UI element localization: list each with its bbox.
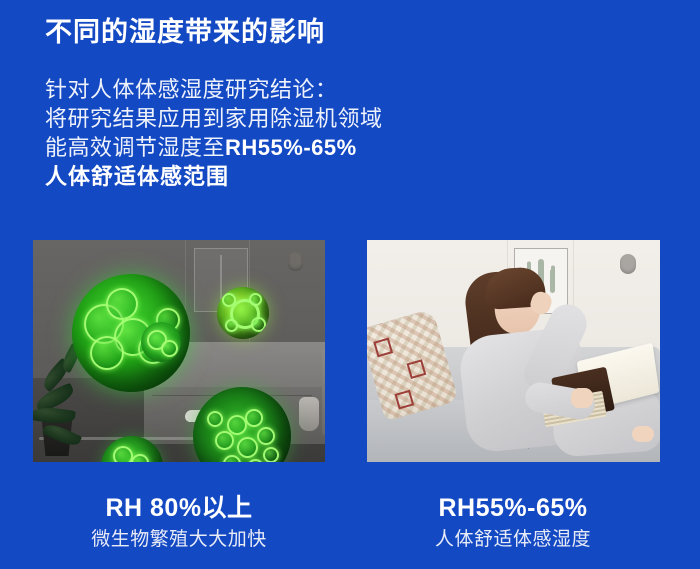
panel-comfort-humidity	[367, 240, 660, 462]
microbe-cell	[263, 447, 279, 462]
captions-row: RH 80%以上 微生物繁殖大大加快 RH55%-65% 人体舒适体感湿度	[0, 492, 700, 569]
caption-comfort-humidity: RH55%-65% 人体舒适体感湿度	[367, 492, 659, 552]
microbe-cell	[207, 411, 223, 427]
woman-reading	[367, 240, 660, 462]
caption-head-comfort-humidity: RH55%-65%	[367, 492, 659, 524]
microbe-cell	[237, 437, 258, 458]
microbe-cell	[251, 317, 266, 332]
body-line-3-plain: 能高效调节湿度至	[45, 135, 225, 160]
caption-sub-high-humidity: 微生物繁殖大大加快	[33, 527, 325, 552]
page-title: 不同的湿度带来的影响	[45, 14, 665, 50]
microbe-cell	[247, 459, 264, 462]
body-line-4: 人体舒适体感范围	[45, 162, 645, 191]
wall-thermostat-icon	[288, 252, 303, 271]
microbe-floating-right	[217, 287, 269, 339]
heading-block: 不同的湿度带来的影响	[45, 14, 665, 50]
microbe-cell	[131, 454, 149, 462]
microbe-cell	[222, 293, 236, 307]
panel-high-humidity	[33, 240, 325, 462]
body-copy: 针对人体体感湿度研究结论： 将研究结果应用到家用除湿机领域 能高效调节湿度至RH…	[45, 75, 645, 191]
caption-head-high-humidity: RH 80%以上	[33, 492, 325, 524]
panels-row	[0, 240, 700, 462]
microbe-cell	[161, 340, 178, 357]
microbe-small-front	[141, 322, 181, 362]
microbe-cell	[257, 427, 275, 445]
foot	[632, 426, 654, 442]
body-line-2: 将研究结果应用到家用除湿机领域	[45, 104, 645, 133]
microbe-cell	[90, 336, 124, 370]
microbe-cell	[249, 293, 262, 306]
photo-dim-living-room-with-microbes	[33, 240, 325, 462]
microbe-cell	[106, 288, 138, 320]
hand-holding-book	[571, 388, 593, 408]
body-line-1: 针对人体体感湿度研究结论：	[45, 75, 645, 104]
caption-sub-comfort-humidity: 人体舒适体感湿度	[367, 527, 659, 552]
body-line-3: 能高效调节湿度至RH55%-65%	[45, 133, 645, 162]
microbe-cell	[225, 319, 238, 332]
sofa-armrest	[322, 348, 325, 436]
microbe-cell	[113, 446, 133, 462]
microbe-cell	[215, 431, 234, 450]
caption-high-humidity: RH 80%以上 微生物繁殖大大加快	[33, 492, 325, 552]
vase	[299, 397, 319, 431]
humidity-infographic-poster: 不同的湿度带来的影响 针对人体体感湿度研究结论： 将研究结果应用到家用除湿机领域…	[0, 0, 700, 569]
body-line-3-strong: RH55%-65%	[225, 135, 357, 160]
dried-plant-icon	[221, 255, 222, 301]
microbe-cell	[223, 455, 241, 462]
microbe-cell	[245, 409, 263, 427]
photo-bright-living-room-woman-reading	[367, 240, 660, 462]
